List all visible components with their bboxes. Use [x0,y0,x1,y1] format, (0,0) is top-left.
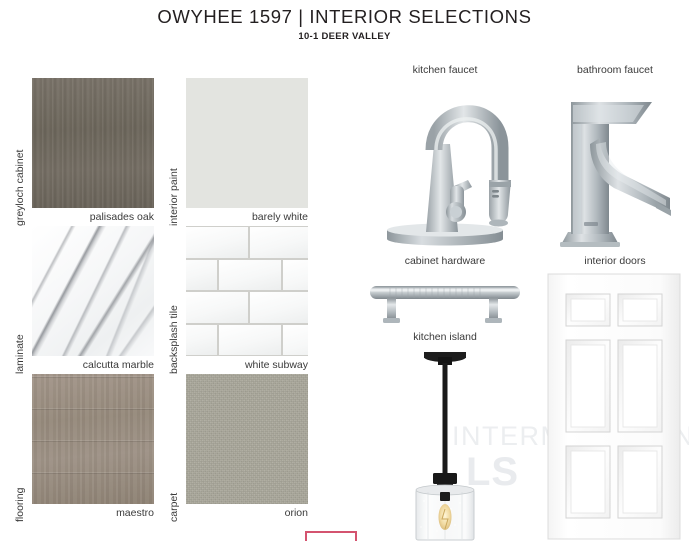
swatch-name-label: calcutta marble [32,359,154,371]
swatch-greyloch-cabinet[interactable]: greyloch cabinet palisades oak [14,78,159,226]
product-label-kitchen-faucet: kitchen faucet [350,64,540,76]
bar-pull-icon [350,273,540,329]
swatch-name-label: palisades oak [32,211,154,223]
swatch-name-label: barely white [186,211,308,223]
product-label-bathroom-faucet: bathroom faucet [540,64,689,76]
product-interior-doors[interactable]: interior doors [540,255,689,541]
product-label-cabinet-hardware: cabinet hardware [350,255,540,267]
page-subtitle: 10-1 DEER VALLEY [0,31,689,42]
product-bathroom-faucet[interactable]: bathroom faucet [540,64,689,254]
swatch-image-barely-white [186,78,308,208]
swatch-name-label: maestro [32,507,154,519]
swatch-carpet[interactable]: carpet orion [168,374,313,522]
swatch-image-white-subway [186,226,308,356]
six-panel-door-icon [540,272,689,541]
interior-selections-board: OWYHEE 1597 | INTERIOR SELECTIONS 10-1 D… [0,0,689,541]
swatch-category-label: laminate [14,244,28,374]
swatch-image-calcutta-marble [32,226,154,356]
product-cabinet-hardware[interactable]: cabinet hardware [350,255,540,330]
page-title: OWYHEE 1597 | INTERIOR SELECTIONS [0,6,689,28]
swatch-image-palisades-oak [32,78,154,208]
pendant-light-icon [350,349,540,541]
swatch-laminate[interactable]: laminate calcutta marble [14,226,159,374]
kitchen-faucet-icon [350,80,540,254]
swatch-backsplash-tile[interactable]: backsplash tile white subway [168,226,313,374]
swatch-flooring[interactable]: flooring maestro [14,374,159,522]
swatch-category-label: carpet [168,392,182,522]
swatch-category-label: backsplash tile [168,244,182,374]
swatch-category-label: greyloch cabinet [14,96,28,226]
swatch-category-label: interior paint [168,96,182,226]
swatch-category-label: flooring [14,392,28,522]
swatch-image-maestro [32,374,154,504]
swatch-interior-paint[interactable]: interior paint barely white [168,78,313,226]
product-kitchen-faucet[interactable]: kitchen faucet [350,64,540,254]
product-kitchen-island[interactable]: kitchen island [350,331,540,541]
board-header: OWYHEE 1597 | INTERIOR SELECTIONS 10-1 D… [0,6,689,42]
bathroom-faucet-icon [540,82,689,254]
product-label-kitchen-island: kitchen island [350,331,540,343]
swatch-image-orion [186,374,308,504]
cropped-highlight-box [305,531,357,541]
product-label-interior-doors: interior doors [540,255,689,267]
swatch-name-label: white subway [186,359,308,371]
swatch-name-label: orion [186,507,308,519]
